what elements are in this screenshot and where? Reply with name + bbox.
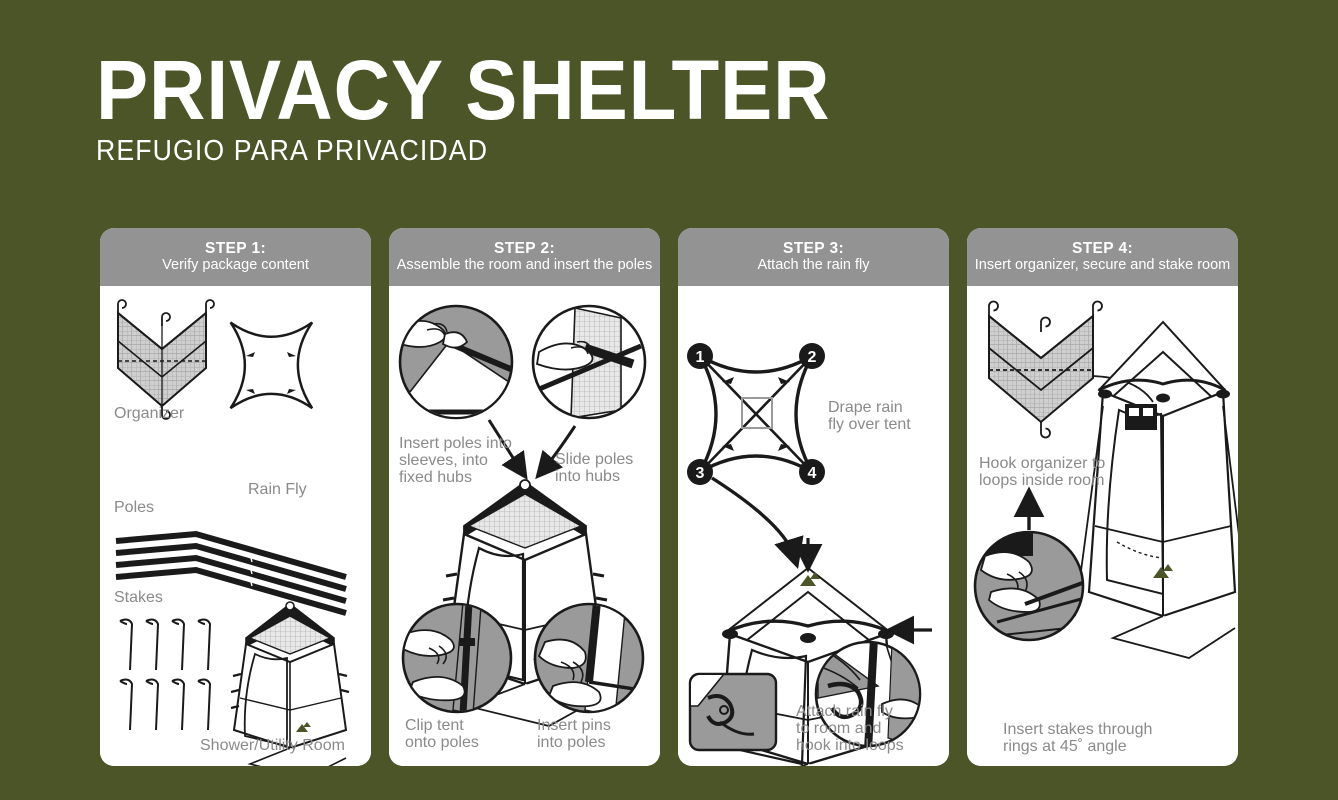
step-4-illustration: Hook organizer to loops inside room Inse…	[967, 286, 1238, 766]
step-1-illustration: Organizer Rain Fly Poles Stakes Shower/U…	[100, 286, 371, 766]
rain-fly-numbered: 1 2 3 4	[687, 343, 825, 485]
step-panel-3: STEP 3: Attach the rain fly	[678, 228, 949, 766]
drape-arrow	[712, 478, 794, 556]
caption-insert-poles: Insert poles into sleeves, into fixed hu…	[399, 436, 512, 487]
step-4-desc: Insert organizer, secure and stake room	[973, 257, 1232, 274]
corner-number-1: 1	[696, 349, 705, 366]
caption-organizer: Organizer	[114, 406, 184, 423]
page-title: PRIVACY SHELTER	[96, 52, 831, 129]
inset-slide-poles	[533, 306, 645, 418]
caption-slide-poles: Slide poles into hubs	[555, 452, 633, 486]
step-panel-2: STEP 2: Assemble the room and insert the…	[389, 228, 660, 766]
step-2-label: STEP 2:	[395, 240, 654, 258]
step-panel-4: STEP 4: Insert organizer, secure and sta…	[967, 228, 1238, 766]
caption-insert-stakes: Insert stakes through rings at 45˚ angle	[1003, 722, 1152, 756]
step-2-illustration: Insert poles into sleeves, into fixed hu…	[389, 286, 660, 766]
instruction-sheet: PRIVACY SHELTER REFUGIO PARA PRIVACIDAD …	[0, 0, 1338, 800]
step-4-header: STEP 4: Insert organizer, secure and sta…	[967, 228, 1238, 286]
inset-loop-detail	[690, 674, 776, 750]
step-2-desc: Assemble the room and insert the poles	[395, 257, 654, 274]
page-subtitle: REFUGIO PARA PRIVACIDAD	[96, 135, 823, 168]
inset-clip-tent	[401, 602, 511, 714]
caption-rain-fly: Rain Fly	[248, 482, 307, 499]
step-1-desc: Verify package content	[106, 257, 365, 274]
step-2-artwork	[389, 286, 660, 766]
caption-poles: Poles	[114, 500, 154, 517]
step-3-label: STEP 3:	[684, 240, 943, 258]
step-3-illustration: 1 2 3 4	[678, 286, 949, 766]
steps-container: STEP 1: Verify package content	[100, 228, 1238, 766]
caption-hook-organizer: Hook organizer to loops inside room	[979, 456, 1105, 490]
corner-number-3: 3	[696, 465, 705, 482]
inset-stake-hand	[973, 532, 1087, 640]
step-1-artwork	[100, 286, 371, 766]
step-1-header: STEP 1: Verify package content	[100, 228, 371, 286]
caption-stakes: Stakes	[114, 590, 163, 607]
step-3-artwork: 1 2 3 4	[678, 286, 949, 766]
inset-insert-poles	[394, 306, 513, 418]
step-4-label: STEP 4:	[973, 240, 1232, 258]
step-4-artwork	[967, 286, 1238, 766]
caption-attach-rain-fly: Attach rain fly to room and hook into lo…	[796, 704, 904, 755]
organizer-graphic	[118, 300, 214, 419]
tent-graphic-step4	[1075, 322, 1238, 658]
caption-insert-pins: Insert pins into poles	[537, 718, 611, 752]
step-panel-1: STEP 1: Verify package content	[100, 228, 371, 766]
step-2-header: STEP 2: Assemble the room and insert the…	[389, 228, 660, 286]
step-3-header: STEP 3: Attach the rain fly	[678, 228, 949, 286]
corner-number-2: 2	[808, 349, 817, 366]
step-3-desc: Attach the rain fly	[684, 257, 943, 274]
caption-clip-tent: Clip tent onto poles	[405, 718, 479, 752]
step-1-label: STEP 1:	[106, 240, 365, 258]
title-block: PRIVACY SHELTER REFUGIO PARA PRIVACIDAD	[96, 52, 886, 168]
caption-shower-room: Shower/Utility Room	[200, 738, 345, 755]
caption-drape-rain-fly: Drape rain fly over tent	[828, 400, 911, 434]
corner-number-4: 4	[808, 465, 817, 482]
rain-fly-graphic	[231, 322, 313, 408]
stakes-graphic	[120, 620, 210, 730]
